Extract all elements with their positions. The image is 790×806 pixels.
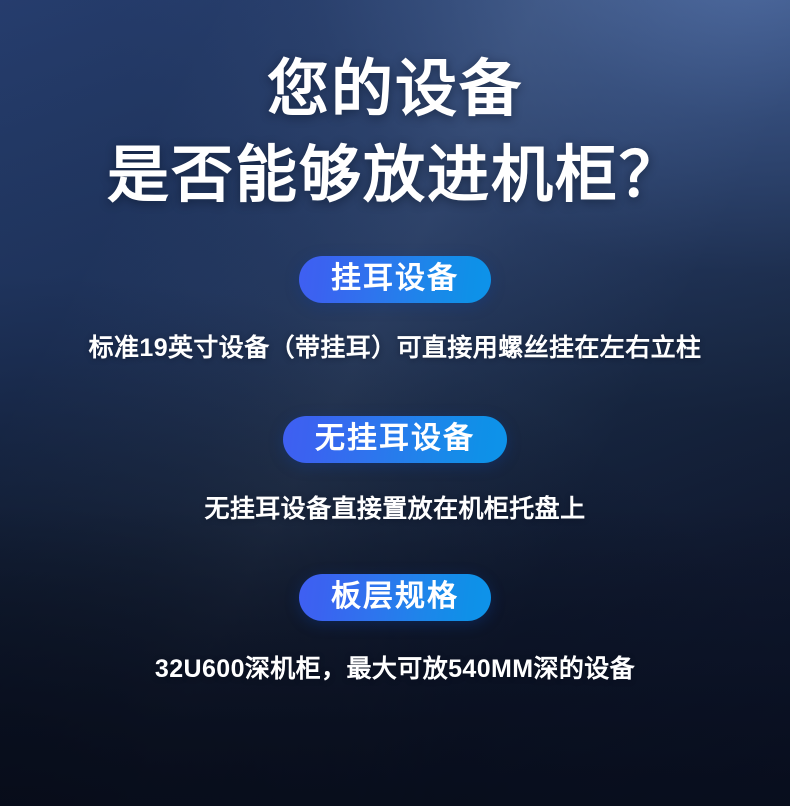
promo-poster: 您的设备 是否能够放进机柜？ 挂耳设备 标准19英寸设备（带挂耳）可直接用螺丝挂… bbox=[0, 0, 790, 806]
badge-mounted-ears: 挂耳设备 bbox=[299, 256, 491, 303]
poster-content: 您的设备 是否能够放进机柜？ 挂耳设备 标准19英寸设备（带挂耳）可直接用螺丝挂… bbox=[0, 0, 790, 806]
badge-no-ears: 无挂耳设备 bbox=[283, 416, 507, 463]
headline: 您的设备 是否能够放进机柜？ bbox=[0, 0, 790, 213]
description-mounted-ears: 标准19英寸设备（带挂耳）可直接用螺丝挂在左右立柱 bbox=[89, 333, 702, 363]
badge-shelf-spec: 板层规格 bbox=[299, 574, 491, 621]
headline-line-2: 是否能够放进机柜？ bbox=[0, 139, 790, 213]
feature-section-no-ears: 无挂耳设备 无挂耳设备直接置放在机柜托盘上 bbox=[0, 416, 790, 524]
feature-section-shelf-spec: 板层规格 32U600深机柜，最大可放540MM深的设备 bbox=[0, 574, 790, 684]
feature-section-mounted-ears: 挂耳设备 标准19英寸设备（带挂耳）可直接用螺丝挂在左右立柱 bbox=[0, 256, 790, 363]
description-shelf-spec: 32U600深机柜，最大可放540MM深的设备 bbox=[155, 654, 635, 684]
headline-line-1: 您的设备 bbox=[0, 53, 790, 127]
badge-no-ears-label: 无挂耳设备 bbox=[315, 424, 475, 456]
badge-mounted-ears-label: 挂耳设备 bbox=[331, 264, 459, 296]
badge-shelf-spec-label: 板层规格 bbox=[331, 582, 459, 614]
description-no-ears: 无挂耳设备直接置放在机柜托盘上 bbox=[204, 494, 585, 524]
